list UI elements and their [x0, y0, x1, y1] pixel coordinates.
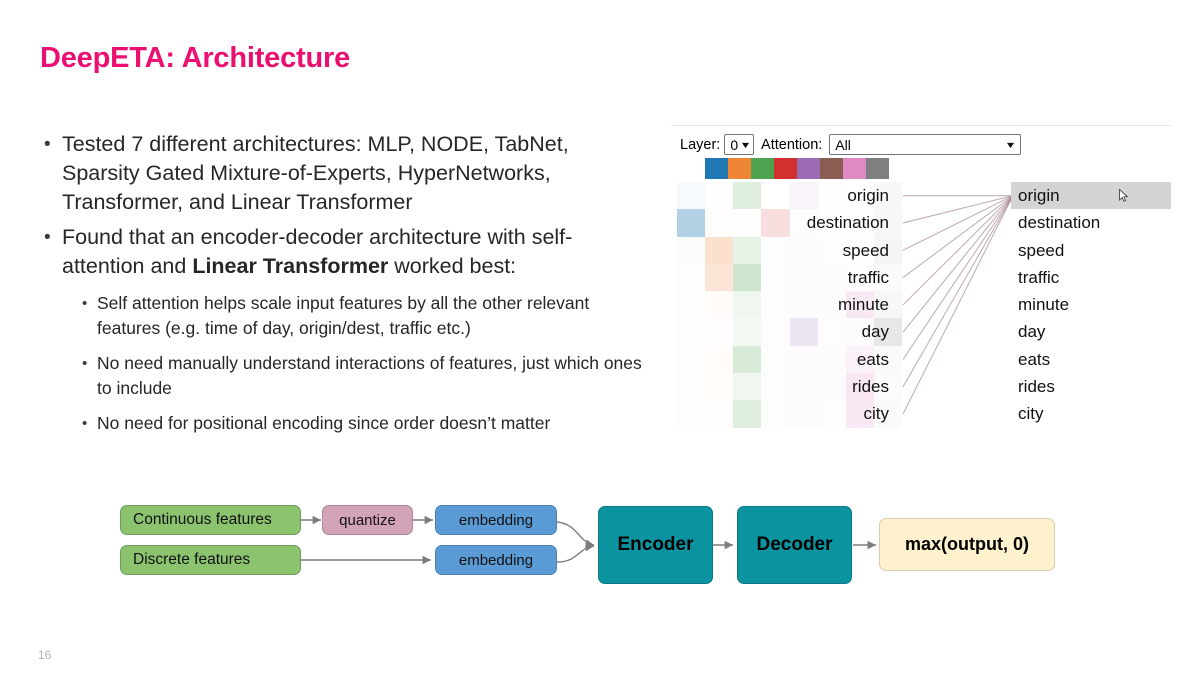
layer-label: Layer:	[680, 137, 720, 153]
node-encoder[interactable]: Encoder	[598, 506, 713, 584]
target-token-speed[interactable]: speed	[1011, 237, 1171, 264]
chevron-down-icon: ▼	[740, 140, 752, 150]
bullet-item-1: • Tested 7 different architectures: MLP,…	[44, 130, 644, 217]
bullet-item-2: • Found that an encoder-decoder architec…	[44, 223, 644, 281]
bullet-text-2: Found that an encoder-decoder architectu…	[62, 223, 644, 281]
node-discrete-features-label: Discrete features	[133, 551, 250, 569]
node-continuous-features[interactable]: Continuous features	[120, 505, 301, 535]
node-embedding-top-label: embedding	[459, 512, 533, 529]
sub-bullet-item-3: • No need for positional encoding since …	[82, 411, 644, 436]
target-token-traffic[interactable]: traffic	[1011, 264, 1171, 291]
sub-bullet-text-2: No need manually understand interactions…	[97, 351, 644, 401]
target-token-minute[interactable]: minute	[1011, 291, 1171, 318]
sub-bullet-item-2: • No need manually understand interactio…	[82, 351, 644, 401]
head-swatch-2[interactable]	[751, 158, 774, 179]
attention-line	[903, 196, 1013, 414]
sub-bullet-marker: •	[82, 291, 97, 316]
bullet-text-1-body: Tested 7 different architectures: MLP, N…	[62, 132, 569, 214]
sub-bullet-marker: •	[82, 351, 97, 376]
target-token-eats[interactable]: eats	[1011, 346, 1171, 373]
source-token-rides[interactable]: rides	[673, 373, 893, 400]
layer-select[interactable]: 0 ▼	[724, 134, 754, 155]
architecture-diagram: Continuous features Discrete features qu…	[0, 470, 1200, 610]
source-token-minute[interactable]: minute	[673, 291, 893, 318]
attention-line	[903, 196, 1013, 360]
bullet-marker: •	[44, 130, 62, 159]
sub-bullet-marker: •	[82, 411, 97, 436]
node-output-label: max(output, 0)	[905, 534, 1029, 555]
source-token-traffic[interactable]: traffic	[673, 264, 893, 291]
node-output[interactable]: max(output, 0)	[879, 518, 1055, 571]
target-token-origin[interactable]: origin	[1011, 182, 1171, 209]
source-token-day[interactable]: day	[673, 318, 893, 345]
source-token-destination[interactable]: destination	[673, 209, 893, 236]
source-token-origin[interactable]: origin	[673, 182, 893, 209]
target-token-city[interactable]: city	[1011, 400, 1171, 427]
head-swatch-0[interactable]	[705, 158, 728, 179]
page-title: DeepETA: Architecture	[40, 42, 350, 75]
mouse-cursor-icon	[1119, 189, 1128, 202]
attention-line	[903, 196, 1013, 387]
attention-line	[903, 196, 1013, 223]
page-number: 16	[38, 648, 51, 662]
head-swatch-3[interactable]	[774, 158, 797, 179]
bullet-marker: •	[44, 223, 62, 252]
head-swatch-5[interactable]	[820, 158, 843, 179]
source-token-eats[interactable]: eats	[673, 346, 893, 373]
node-embedding-top[interactable]: embedding	[435, 505, 557, 535]
source-token-speed[interactable]: speed	[673, 237, 893, 264]
attention-line	[903, 196, 1013, 251]
source-token-column: origindestinationspeedtrafficminutedayea…	[673, 182, 901, 428]
target-token-destination[interactable]: destination	[1011, 209, 1171, 236]
bullet-text-2-bold: Linear Transformer	[192, 254, 388, 278]
attention-label: Attention:	[761, 137, 822, 153]
node-embedding-bottom[interactable]: embedding	[435, 545, 557, 575]
sub-bullet-text-3: No need for positional encoding since or…	[97, 411, 550, 436]
source-token-city[interactable]: city	[673, 400, 893, 427]
bullet-text-2-suffix: worked best:	[388, 254, 516, 278]
node-embedding-bottom-label: embedding	[459, 552, 533, 569]
source-token-labels: origindestinationspeedtrafficminutedayea…	[673, 182, 893, 428]
node-discrete-features[interactable]: Discrete features	[120, 545, 301, 575]
attention-viewer-panel: Layer: 0 ▼ Attention: All ▼ origindestin…	[671, 125, 1171, 431]
node-decoder[interactable]: Decoder	[737, 506, 852, 584]
node-continuous-features-label: Continuous features	[133, 511, 272, 529]
attention-line	[903, 196, 1013, 305]
node-quantize-label: quantize	[339, 512, 396, 529]
attention-head-swatches[interactable]	[705, 158, 889, 179]
node-encoder-label: Encoder	[617, 534, 693, 556]
attention-line	[903, 196, 1013, 333]
target-token-column: origindestinationspeedtrafficminutedayea…	[1011, 182, 1171, 428]
target-token-rides[interactable]: rides	[1011, 373, 1171, 400]
bullet-list: • Tested 7 different architectures: MLP,…	[44, 130, 644, 446]
chevron-down-icon: ▼	[1005, 140, 1017, 150]
bullet-text-1: Tested 7 different architectures: MLP, N…	[62, 130, 644, 217]
head-swatch-6[interactable]	[843, 158, 866, 179]
sub-bullet-text-1: Self attention helps scale input feature…	[97, 291, 644, 341]
node-decoder-label: Decoder	[756, 534, 832, 556]
attention-select-value: All	[835, 137, 851, 153]
head-swatch-1[interactable]	[728, 158, 751, 179]
attention-line	[903, 196, 1013, 278]
layer-select-value: 0	[730, 137, 738, 153]
attention-select[interactable]: All ▼	[829, 134, 1021, 155]
sub-bullet-list: • Self attention helps scale input featu…	[82, 291, 644, 436]
sub-bullet-item-1: • Self attention helps scale input featu…	[82, 291, 644, 341]
node-quantize[interactable]: quantize	[322, 505, 413, 535]
attention-controls: Layer: 0 ▼ Attention: All ▼	[680, 134, 1021, 155]
head-swatch-4[interactable]	[797, 158, 820, 179]
target-token-day[interactable]: day	[1011, 318, 1171, 345]
head-swatch-7[interactable]	[866, 158, 889, 179]
